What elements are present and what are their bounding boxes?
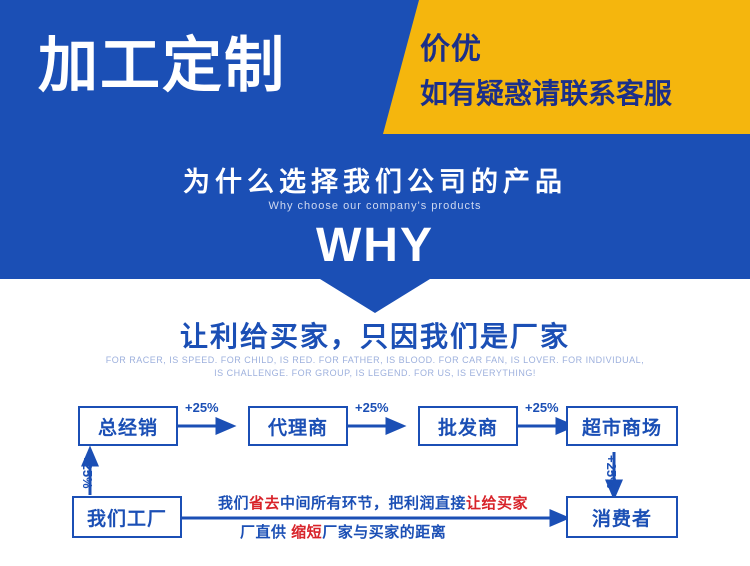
headline-secondary-sub2: IS CHALLENGE. FOR GROUP, IS LEGEND. FOR … <box>0 368 750 378</box>
flow-center-line1-a: 我们 <box>218 495 249 512</box>
mid-why-word: WHY <box>0 218 750 273</box>
flow-center-line1-b: 省去 <box>249 495 280 512</box>
banner-yellow-line2: 如有疑惑请联系客服 <box>420 72 672 112</box>
pct-label-left-vertical: +25% <box>80 455 95 489</box>
banner-yellow-line1: 价优 <box>420 24 482 68</box>
flow-center-line2-b: 缩短 <box>291 524 322 541</box>
mid-title: 为什么选择我们公司的产品 <box>0 160 750 199</box>
pct-label-0: +25% <box>185 400 219 415</box>
pct-label-1: +25% <box>355 400 389 415</box>
flow-center-line2: 厂直供 缩短厂家与买家的距离 <box>240 521 446 542</box>
flow-center-line2-a: 厂直供 <box>240 524 291 541</box>
flow-box-top-3: 超市商场 <box>566 406 678 446</box>
pct-label-right-vertical: +25% <box>604 455 619 489</box>
flow-center-line1: 我们省去中间所有环节，把利润直接让给买家 <box>218 492 528 513</box>
flow-box-top-0: 总经销 <box>78 406 178 446</box>
flow-box-top-2: 批发商 <box>418 406 518 446</box>
banner-left-title: 加工定制 <box>38 34 286 98</box>
flow-box-factory: 我们工厂 <box>72 496 182 538</box>
flow-center-line1-d: 让给买家 <box>466 495 528 512</box>
flow-center-line1-c: 中间所有环节，把利润直接 <box>280 495 466 512</box>
flow-box-consumer: 消费者 <box>566 496 678 538</box>
mid-subtitle: Why choose our company's products <box>0 200 750 212</box>
poster-root: 加工定制 价优 如有疑惑请联系客服 为什么选择我们公司的产品 Why choos… <box>0 0 750 566</box>
headline-secondary-sub1: FOR RACER, IS SPEED. FOR CHILD, IS RED. … <box>0 355 750 365</box>
mid-band-notch <box>0 279 750 313</box>
flow-box-top-1: 代理商 <box>248 406 348 446</box>
headline-secondary: 让利给买家，只因我们是厂家 <box>0 315 750 355</box>
pct-label-2: +25% <box>525 400 559 415</box>
flow-center-line2-c: 厂家与买家的距离 <box>322 524 446 541</box>
